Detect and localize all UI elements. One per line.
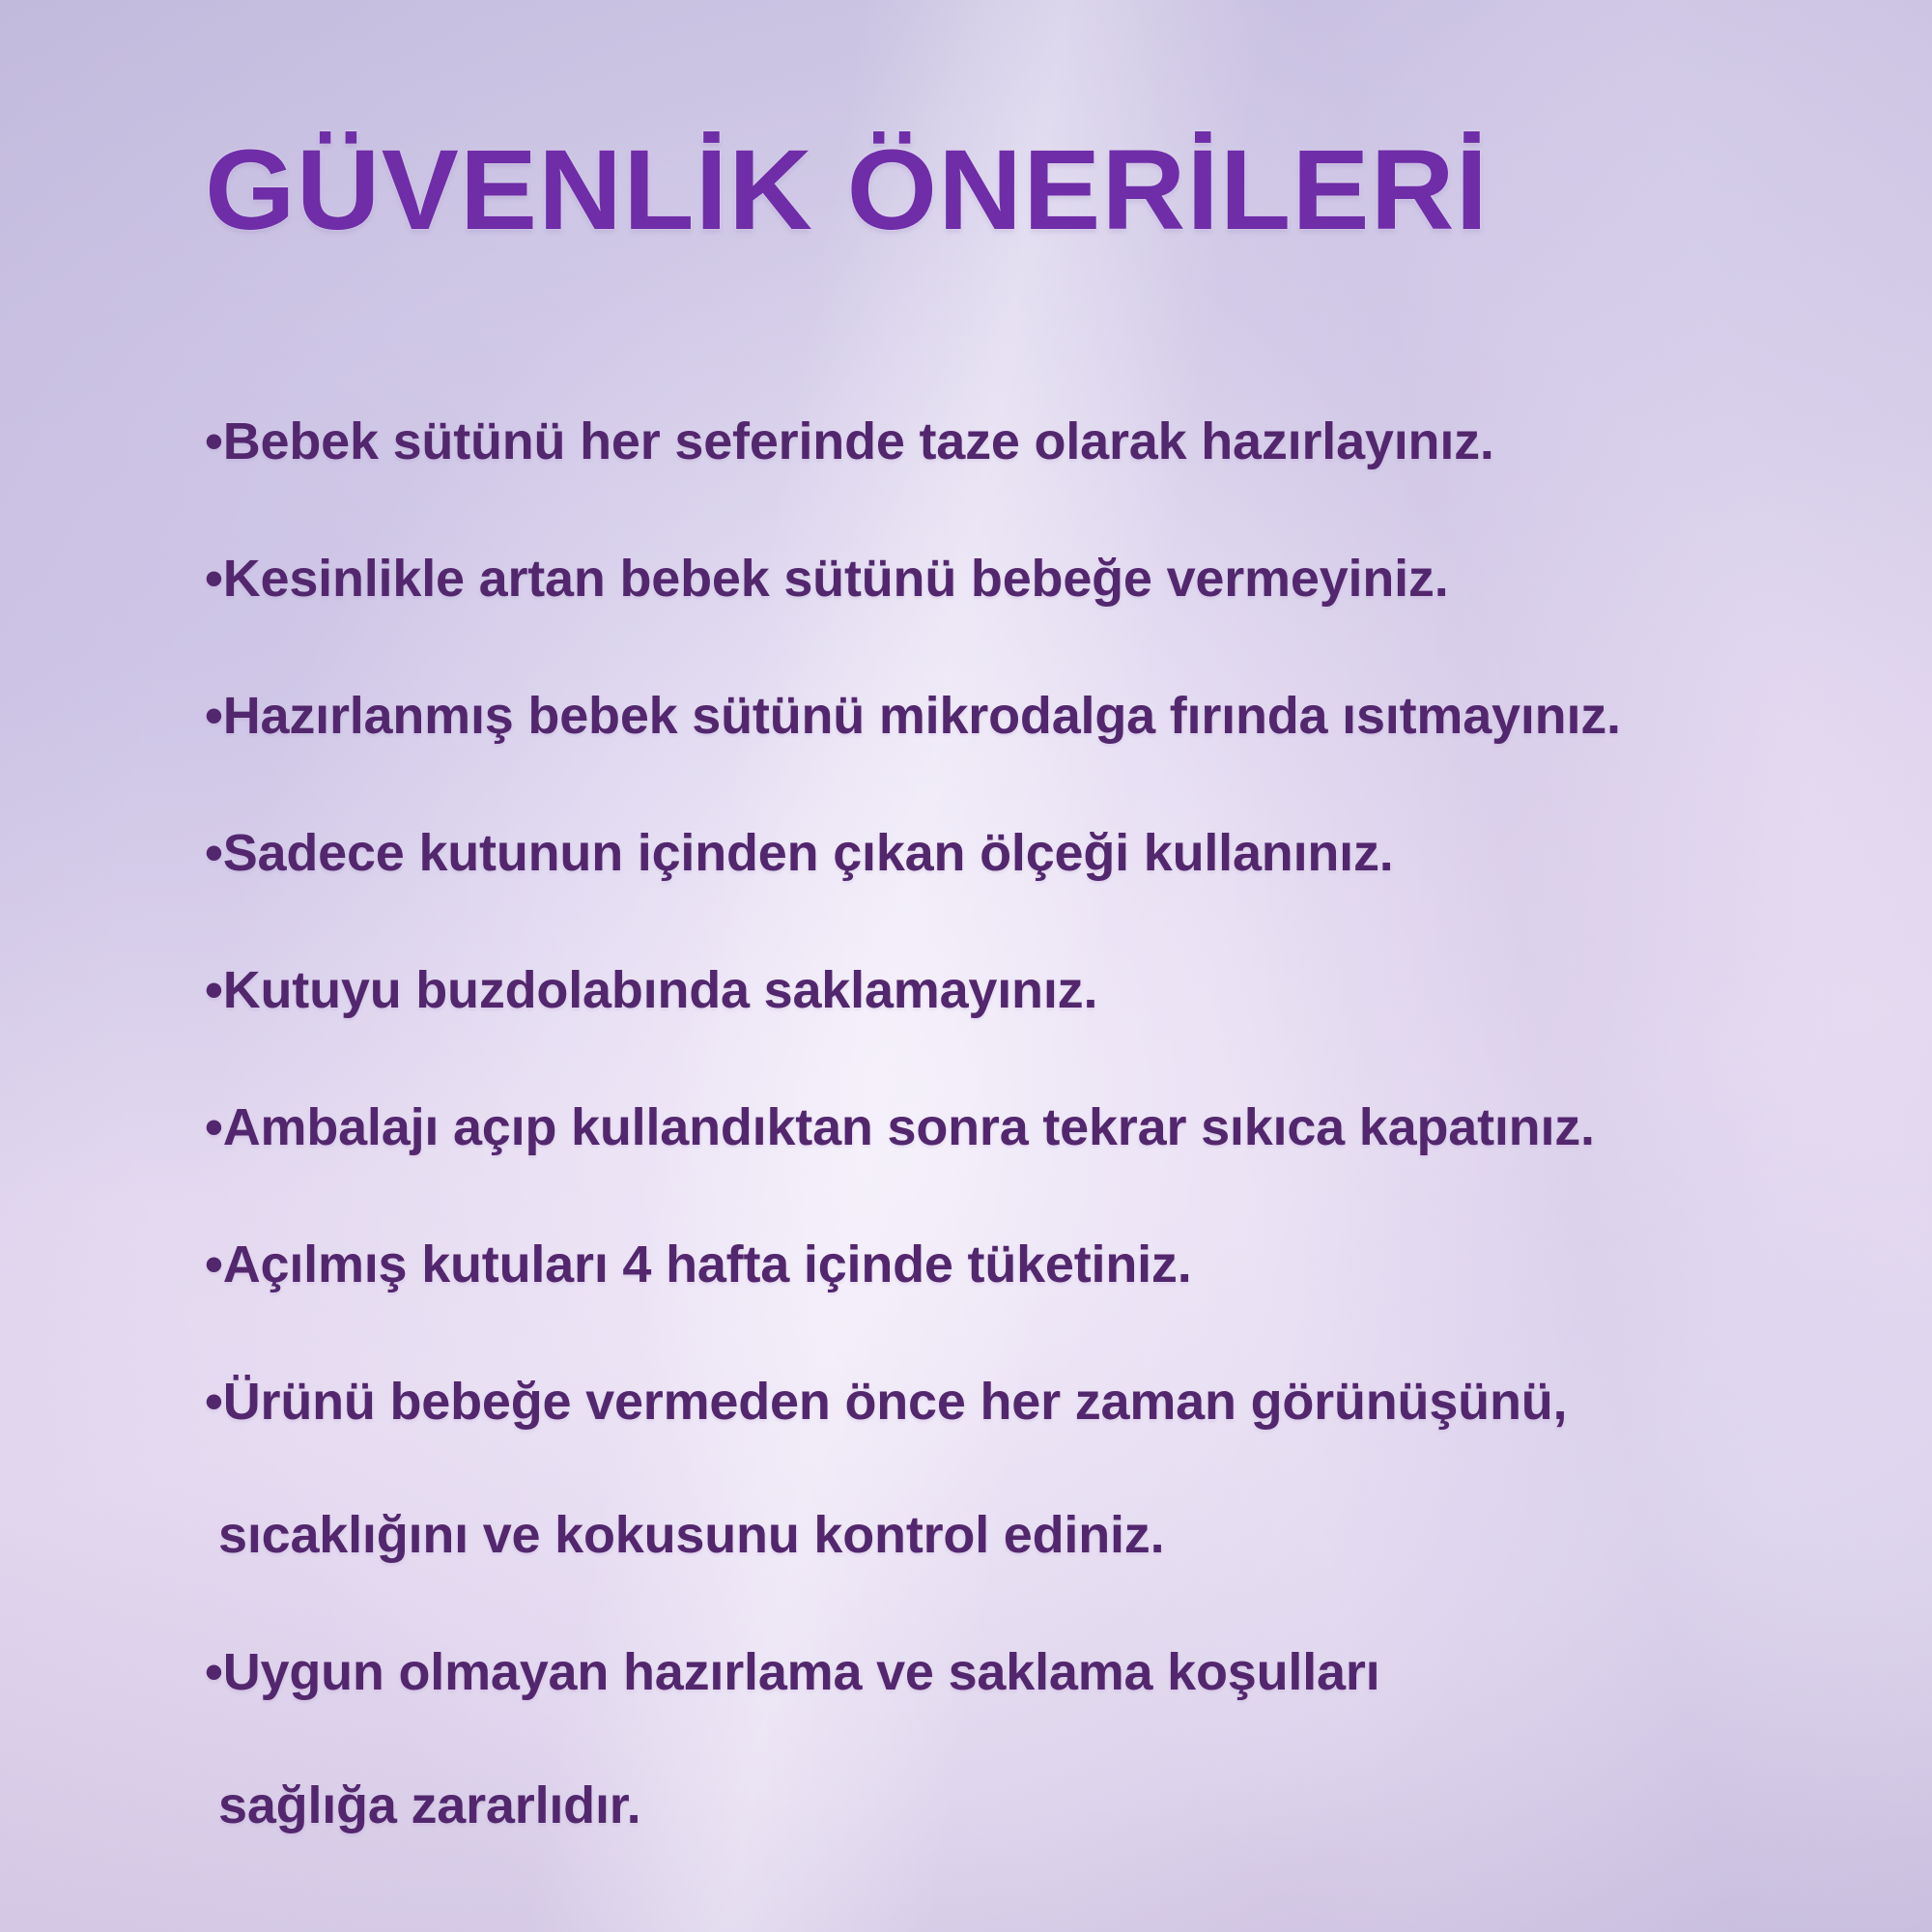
list-item-continuation: sıcaklığını ve kokusunu kontrol ediniz. <box>205 1509 1866 1561</box>
list-item: •Sadece kutunun içinden çıkan ölçeği kul… <box>205 827 1866 879</box>
poster-content: GÜVENLİK ÖNERİLERİ •Bebek sütünü her sef… <box>0 0 1932 1932</box>
page-title: GÜVENLİK ÖNERİLERİ <box>205 133 1489 247</box>
list-item: •Ambalajı açıp kullandıktan sonra tekrar… <box>205 1101 1866 1153</box>
poster-canvas: GÜVENLİK ÖNERİLERİ •Bebek sütünü her sef… <box>0 0 1932 1932</box>
list-item: •Kesinlikle artan bebek sütünü bebeğe ve… <box>205 553 1866 605</box>
list-item: •Bebek sütünü her seferinde taze olarak … <box>205 415 1866 468</box>
list-item-continuation: sağlığa zararlıdır. <box>205 1779 1866 1832</box>
list-item: •Kutuyu buzdolabında saklamayınız. <box>205 964 1866 1016</box>
list-item: •Ürünü bebeğe vermeden önce her zaman gö… <box>205 1376 1866 1428</box>
safety-recommendations-list: •Bebek sütünü her seferinde taze olarak … <box>205 415 1866 1832</box>
list-item: •Açılmış kutuları 4 hafta içinde tüketin… <box>205 1238 1866 1291</box>
list-item: •Uygun olmayan hazırlama ve saklama koşu… <box>205 1646 1866 1698</box>
list-item: •Hazırlanmış bebek sütünü mikrodalga fır… <box>205 690 1866 742</box>
